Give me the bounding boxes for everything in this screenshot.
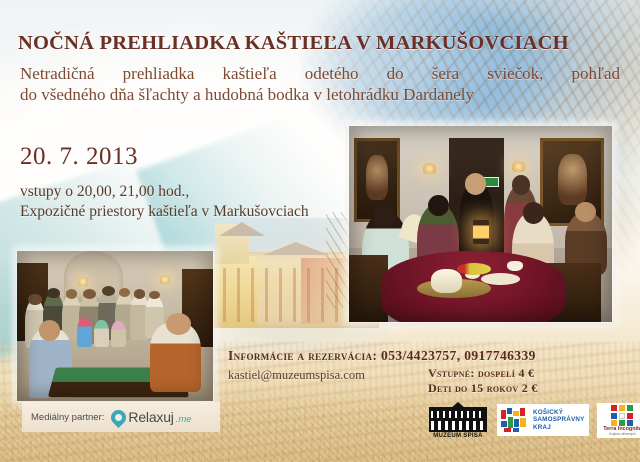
- price-adult: Vstupné: dospelí 4 €: [428, 366, 534, 381]
- location-pin-icon: [108, 406, 129, 427]
- ksk-label: KOŠICKÝ SAMOSPRÁVNY KRAJ: [533, 409, 585, 431]
- terra-mosaic-icon: [611, 405, 634, 425]
- photo-visitors: [16, 250, 214, 402]
- poster-subtitle-line-1: Netradičná prehliadka kaštieľa odetého d…: [20, 63, 620, 84]
- museum-building-icon: [429, 407, 487, 432]
- photo-tea-vignette: [349, 126, 612, 322]
- media-partner-label: Mediálny partner:: [31, 412, 104, 423]
- ksk-mark-icon: [501, 408, 529, 433]
- museum-building-arcade: [431, 421, 485, 430]
- contact-heading: Informácie a rezervácia: 053/4423757, 09…: [228, 348, 536, 364]
- relaxuj-brand-suffix: .me: [176, 414, 192, 425]
- poster: NOČNÁ PREHLIADKA KAŠTIEĽA V MARKUŠOVCIAC…: [0, 0, 640, 462]
- muzeum-spisa-logo: MÚZEUM SPIŠA: [427, 401, 489, 439]
- price-child: Deti do 15 rokov 2 €: [428, 381, 538, 396]
- event-date: 20. 7. 2013: [20, 143, 138, 171]
- muzeum-spisa-label: MÚZEUM SPIŠA: [433, 433, 483, 439]
- contact-email[interactable]: kastiel@muzeumspisa.com: [228, 368, 365, 383]
- ksk-label-line-2: SAMOSPRÁVNY: [533, 416, 585, 423]
- kosicky-samospravny-kraj-logo: KOŠICKÝ SAMOSPRÁVNY KRAJ: [497, 404, 589, 436]
- media-partner-strip: Mediálny partner: Relaxuj .me: [22, 402, 220, 432]
- photo-tea-party: [348, 125, 613, 323]
- relaxuj-brand-name: Relaxuj: [128, 409, 173, 425]
- event-times: vstupy o 20,00, 21,00 hod.,: [20, 183, 189, 201]
- relaxuj-logo[interactable]: Relaxuj .me: [111, 409, 191, 425]
- logo-row: MÚZEUM SPIŠA KOŠICKÝ SAMOSPRÁVNY KRAJ: [427, 401, 640, 439]
- ksk-label-line-3: KRAJ: [533, 424, 585, 431]
- museum-building-windows: [431, 411, 485, 418]
- photo-visitors-vignette: [17, 251, 213, 401]
- poster-subtitle: Netradičná prehliadka kaštieľa odetého d…: [20, 63, 620, 105]
- poster-subtitle-line-2: do všedného dňa šľachty a hudobná bodka …: [20, 84, 620, 105]
- terra-incognita-logo: Terra Incognita Krajina oživených: [597, 403, 640, 438]
- event-place: Expozičné priestory kaštieľa v Markušovc…: [20, 203, 309, 221]
- page-title: NOČNÁ PREHLIADKA KAŠTIEĽA V MARKUŠOVCIAC…: [18, 32, 622, 55]
- terra-sublabel: Krajina oživených: [609, 432, 636, 436]
- castle-tower: [215, 224, 249, 264]
